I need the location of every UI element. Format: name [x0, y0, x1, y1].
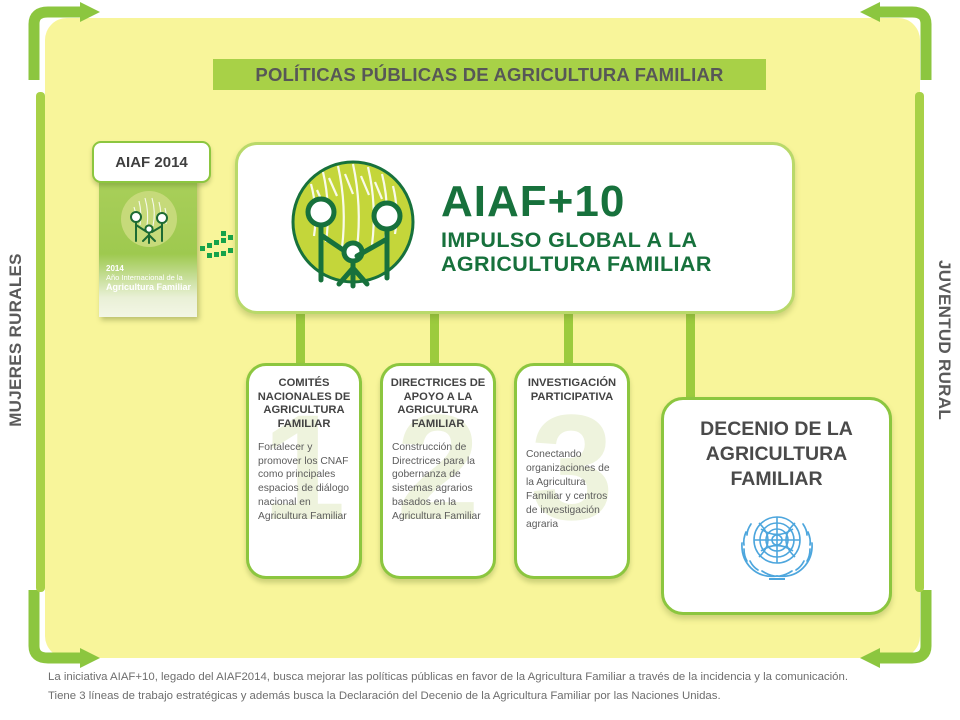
aiaf-plus-10-logo-card: AIAF+10 IMPULSO GLOBAL A LA AGRICULTURA … [235, 142, 795, 314]
side-label-juventud-rural: JUVENTUD RURAL [934, 240, 954, 440]
aiaf-plus-10-emblem-icon [283, 156, 423, 301]
footer-caption-line-1: La iniciativa AIAF+10, legado del AIAF20… [48, 668, 938, 687]
footer-caption: La iniciativa AIAF+10, legado del AIAF20… [48, 668, 938, 706]
pillar-3-heading: INVESTIGACIÓN PARTICIPATIVA [524, 377, 620, 404]
left-accent-bar [36, 92, 45, 592]
logo-title: AIAF+10 [441, 180, 712, 224]
aiaf-2014-poster-text: 2014 Año Internacional de la Agricultura… [106, 265, 192, 292]
aiaf-2014-badge: AIAF 2014 [92, 141, 211, 183]
pillar-2-heading: DIRECTRICES DE APOYO A LA AGRICULTURA FA… [390, 377, 486, 432]
cycle-arrow-top-left-icon [22, 2, 112, 82]
aiaf-2014-badge-label: AIAF 2014 [115, 154, 188, 171]
footer-caption-line-2: Tiene 3 líneas de trabajo estratégicas y… [48, 687, 938, 706]
poster-line-1: Año Internacional de la [106, 274, 192, 282]
right-accent-bar [915, 92, 924, 592]
page-title: POLÍTICAS PÚBLICAS DE AGRICULTURA FAMILI… [255, 64, 723, 86]
logo-subtitle-line-1: IMPULSO GLOBAL A LA [441, 228, 712, 252]
poster-line-2: Agricultura Familiar [106, 282, 192, 292]
pillar-1-body: Fortalecer y promover los CNAF como prin… [258, 441, 351, 524]
pillar-2-body: Construcción de Directrices para la gobe… [392, 441, 485, 524]
pillar-3-body: Conectando organizaciones de la Agricult… [526, 448, 619, 531]
page-title-banner: POLÍTICAS PÚBLICAS DE AGRICULTURA FAMILI… [213, 59, 766, 90]
aiaf-plus-10-logo-text: AIAF+10 IMPULSO GLOBAL A LA AGRICULTURA … [441, 180, 712, 276]
decenio-card: DECENIO DE LA AGRICULTURA FAMILIAR [661, 397, 892, 615]
aiaf-2014-poster-family-icon [121, 191, 177, 247]
aiaf-2014-poster: 2014 Año Internacional de la Agricultura… [99, 177, 197, 317]
united-nations-emblem-icon [664, 504, 889, 584]
cycle-arrow-bottom-left-icon [22, 588, 112, 668]
infographic-root: MUJERES RURALES JUVENTUD RURAL POLÍTICAS… [0, 0, 960, 720]
connector-to-decenio [686, 300, 695, 402]
pillar-card-2: 2 DIRECTRICES DE APOYO A LA AGRICULTURA … [380, 363, 496, 579]
cycle-arrow-top-right-icon [848, 2, 938, 82]
side-label-mujeres-rurales: MUJERES RURALES [6, 240, 26, 440]
decenio-heading: DECENIO DE LA AGRICULTURA FAMILIAR [664, 417, 889, 492]
pillar-1-heading: COMITÉS NACIONALES DE AGRICULTURA FAMILI… [256, 377, 352, 432]
pillar-card-3: 3 INVESTIGACIÓN PARTICIPATIVA Conectando… [514, 363, 630, 579]
pillar-card-1: 1 COMITÉS NACIONALES DE AGRICULTURA FAMI… [246, 363, 362, 579]
logo-subtitle-line-2: AGRICULTURA FAMILIAR [441, 252, 712, 276]
